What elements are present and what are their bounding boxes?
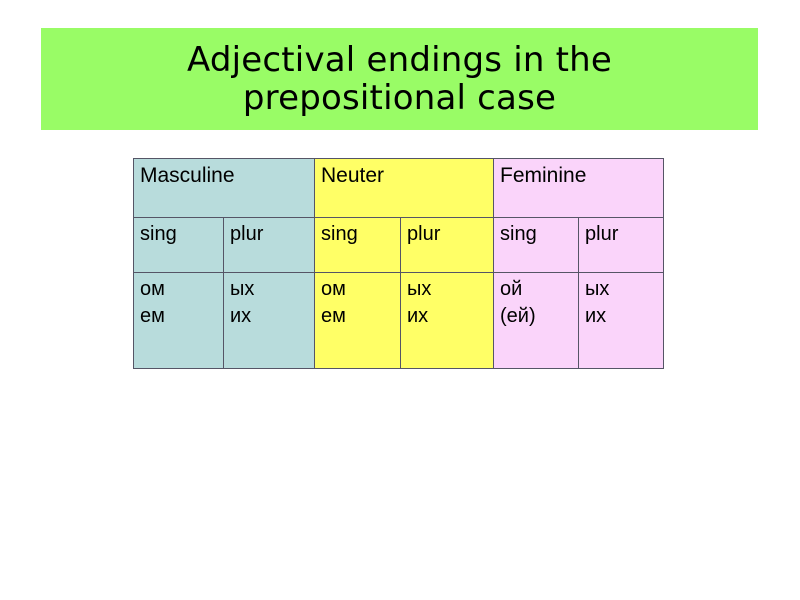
column-header-masculine-singular: sing bbox=[134, 218, 224, 273]
column-header-feminine-plural: plur bbox=[579, 218, 664, 273]
column-header-masculine-plural: plur bbox=[224, 218, 315, 273]
endings-feminine-singular: ой (ей) bbox=[494, 273, 579, 369]
column-header-feminine-singular: sing bbox=[494, 218, 579, 273]
endings-feminine-plural: ых их bbox=[579, 273, 664, 369]
group-header-feminine: Feminine bbox=[494, 159, 664, 218]
page-title: Adjectival endings in the prepositional … bbox=[177, 41, 622, 117]
endings-neuter-singular: ом ем bbox=[315, 273, 401, 369]
column-header-neuter-singular: sing bbox=[315, 218, 401, 273]
adjectival-endings-table: Masculine Neuter Feminine sing plur sing… bbox=[133, 158, 664, 369]
endings-neuter-plural: ых их bbox=[401, 273, 494, 369]
table-row-gender-headers: Masculine Neuter Feminine bbox=[134, 159, 664, 218]
endings-masculine-plural: ых их bbox=[224, 273, 315, 369]
table-row-number-headers: sing plur sing plur sing plur bbox=[134, 218, 664, 273]
group-header-neuter: Neuter bbox=[315, 159, 494, 218]
group-header-masculine: Masculine bbox=[134, 159, 315, 218]
title-banner: Adjectival endings in the prepositional … bbox=[41, 28, 758, 130]
endings-masculine-singular: ом ем bbox=[134, 273, 224, 369]
column-header-neuter-plural: plur bbox=[401, 218, 494, 273]
table-row-endings: ом ем ых их ом ем ых их ой (ей) ых их bbox=[134, 273, 664, 369]
